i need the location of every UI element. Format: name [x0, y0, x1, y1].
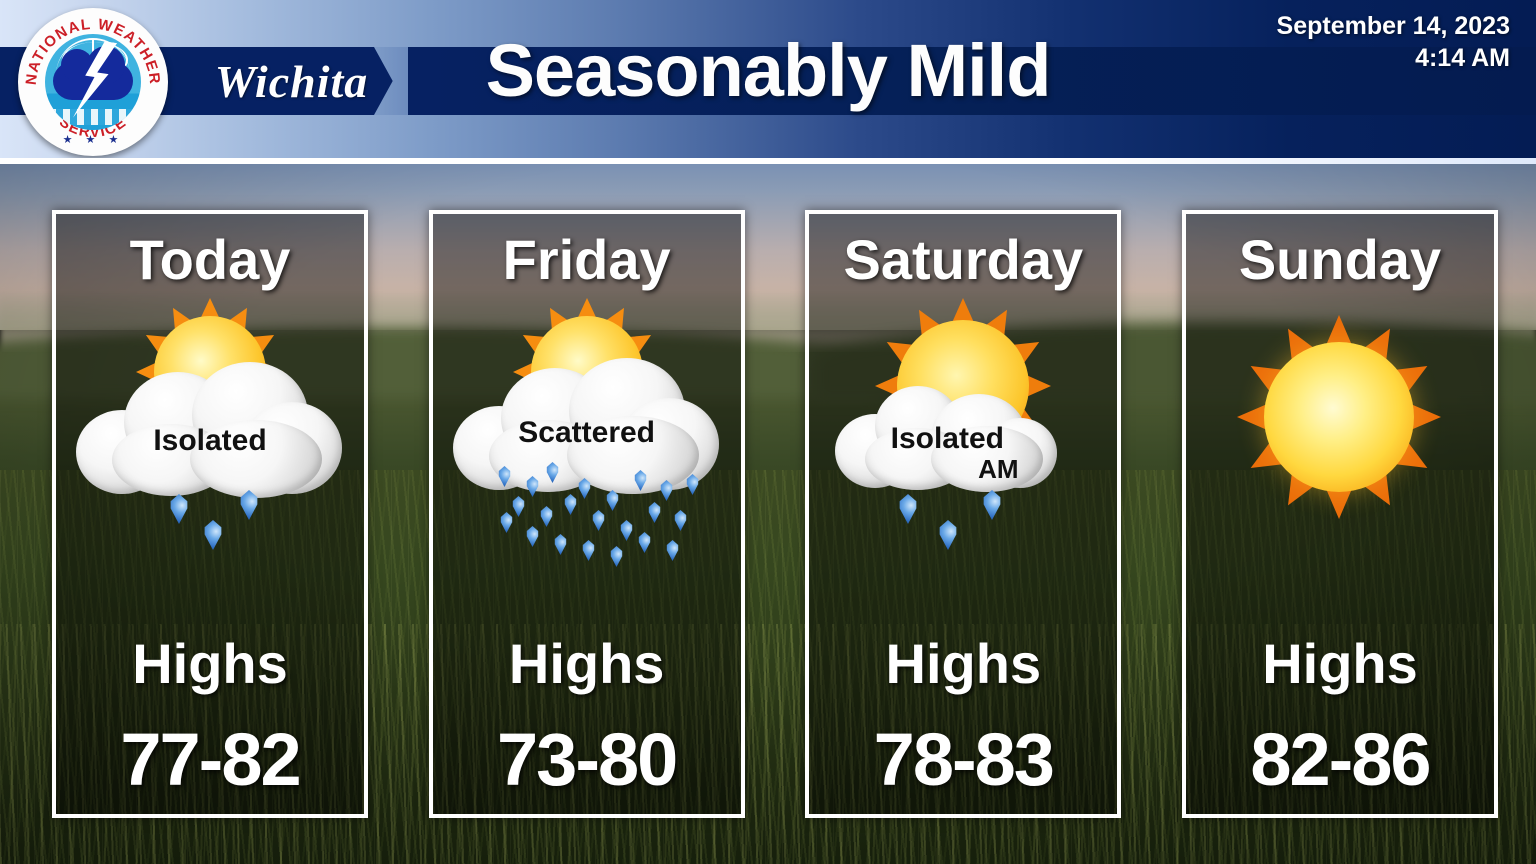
forecast-panel-today[interactable]: Today — [52, 210, 368, 818]
cloud-icon: Isolated — [72, 358, 348, 498]
forecast-time: 4:14 AM — [1277, 42, 1510, 74]
cloud-coverage-label: Scattered — [449, 418, 725, 448]
forecast-panel-sunday[interactable]: Sunday Highs 82 — [1182, 210, 1498, 818]
cloud-icon: Scattered — [449, 354, 725, 494]
cloud-icon: Isolated AM — [835, 380, 1059, 496]
cloud-timing-label: AM — [951, 456, 1045, 482]
header-bar: NATIONAL WEATHER SERVICE ★ ★ ★ Wichita S… — [0, 0, 1536, 162]
highs-label: Highs — [433, 631, 741, 696]
header-separator — [0, 158, 1536, 164]
weather-icon-sun — [1190, 298, 1490, 560]
forecast-panel-friday[interactable]: Friday — [429, 210, 745, 818]
panel-day-label: Friday — [503, 232, 671, 288]
panel-day-label: Today — [130, 232, 291, 288]
sun-disc-icon — [1264, 342, 1414, 492]
cloud-coverage-label: Isolated — [835, 424, 1059, 454]
highs-label: Highs — [1186, 631, 1494, 696]
panel-day-label: Sunday — [1239, 232, 1441, 288]
forecast-graphic: NATIONAL WEATHER SERVICE ★ ★ ★ Wichita S… — [0, 0, 1536, 864]
forecast-date: September 14, 2023 — [1277, 10, 1510, 42]
temperature-range: 78-83 — [809, 717, 1117, 802]
forecast-panel-saturday[interactable]: Saturday — [805, 210, 1121, 818]
panel-day-label: Saturday — [843, 232, 1083, 288]
temperature-range: 82-86 — [1186, 717, 1494, 802]
seal-stars-icon: ★ ★ ★ — [18, 133, 168, 146]
cloud-coverage-label: Isolated — [72, 426, 348, 456]
timestamp-block: September 14, 2023 4:14 AM — [1277, 10, 1510, 74]
weather-icon-sun-behind-rain-cloud: Isolated — [60, 298, 360, 560]
temperature-range: 73-80 — [433, 717, 741, 802]
temperature-range: 77-82 — [56, 717, 364, 802]
weather-icon-rain-cloud-heavy: Scattered — [437, 298, 737, 560]
forecast-panels: Today — [52, 210, 1498, 818]
highs-label: Highs — [809, 631, 1117, 696]
highs-label: Highs — [56, 631, 364, 696]
weather-icon-sun-behind-rain-cloud: Isolated AM — [813, 298, 1113, 560]
